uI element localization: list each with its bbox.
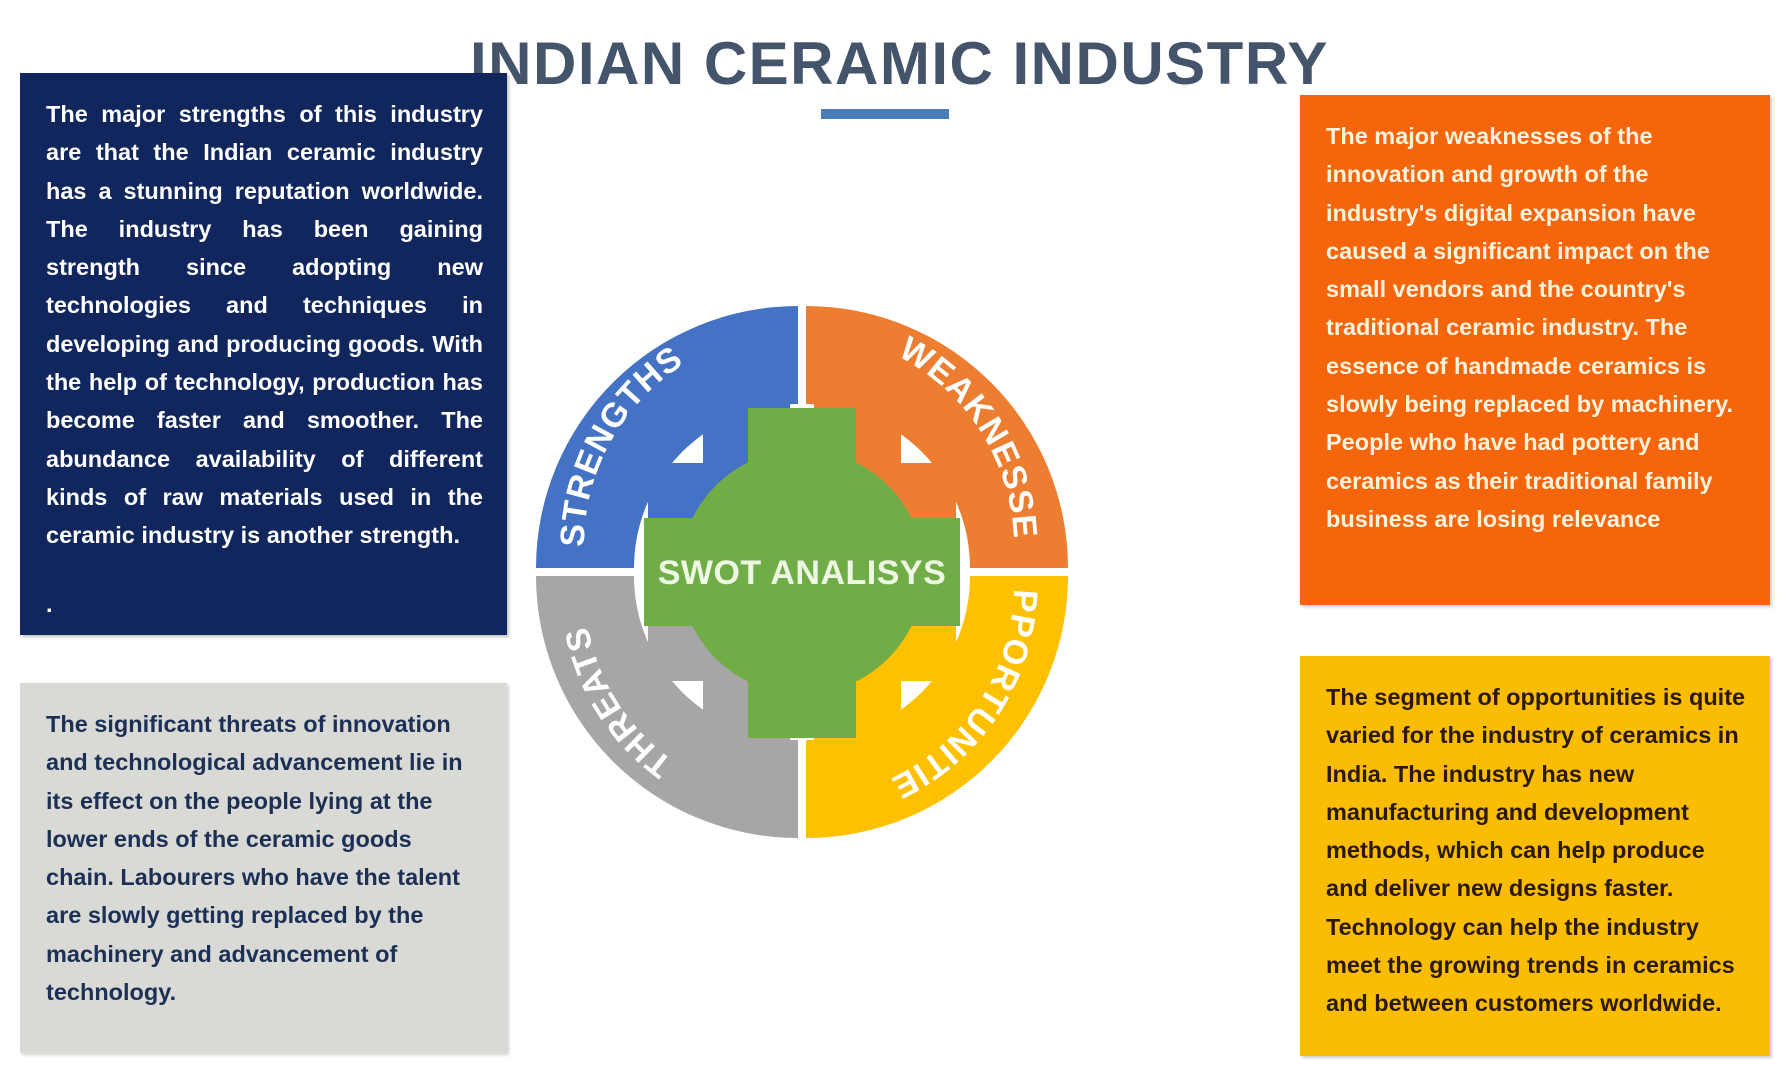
infographic-canvas: INDIAN CERAMIC INDUSTRY The major streng… (0, 0, 1787, 1073)
strengths-trailing-text: . (46, 585, 483, 623)
weaknesses-text-panel: The major weaknesses of the innovation a… (1300, 95, 1770, 605)
opportunities-text-panel: The segment of opportunities is quite va… (1300, 656, 1770, 1056)
threats-body-text: The significant threats of innovation an… (46, 705, 483, 1011)
strengths-body-text: The major strengths of this industry are… (46, 95, 483, 555)
swot-wheel-diagram: STRENGTHS WEAKNESSES (448, 118, 1148, 918)
swot-center-hub[interactable]: SWOT ANALISYS (644, 408, 960, 738)
threats-text-panel: The significant threats of innovation an… (20, 683, 507, 1053)
page-title-block: INDIAN CERAMIC INDUSTRY (470, 32, 1300, 119)
opportunities-body-text: The segment of opportunities is quite va… (1326, 678, 1746, 1023)
strengths-text-panel: The major strengths of this industry are… (20, 73, 507, 635)
page-title: INDIAN CERAMIC INDUSTRY (470, 32, 1300, 95)
weaknesses-body-text: The major weaknesses of the innovation a… (1326, 117, 1746, 538)
center-label: SWOT ANALISYS (658, 554, 947, 592)
